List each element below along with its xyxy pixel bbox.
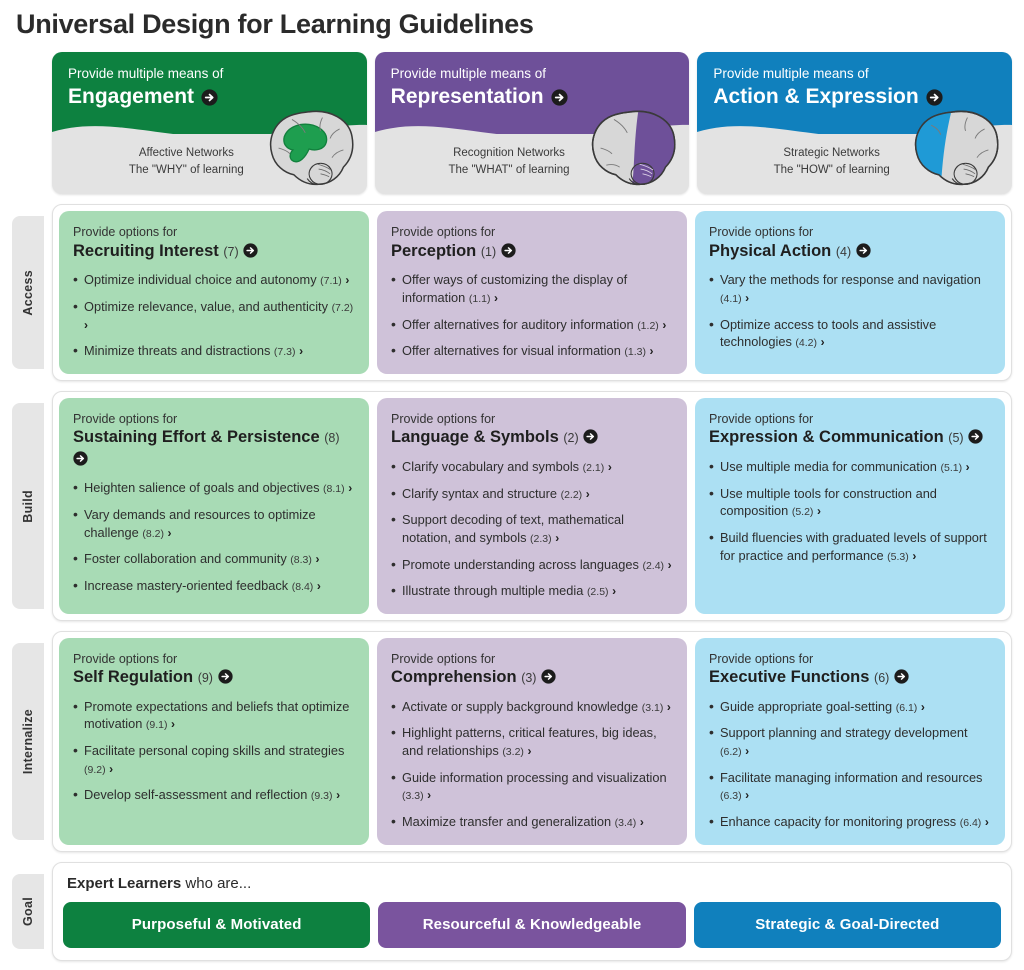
checkpoint-number: (4.2) — [795, 337, 817, 349]
cell-self-regulation[interactable]: Provide options for Self Regulation (9) … — [59, 638, 369, 845]
circle-arrow-right-icon[interactable] — [218, 669, 233, 684]
checkpoint-number: (6.4) — [960, 817, 982, 829]
guidelines-grid: Provide multiple means of Engagement — [12, 52, 1012, 960]
checkpoint-text: Maximize transfer and generalization — [402, 814, 611, 829]
row-label-text: Build — [21, 490, 35, 523]
checkpoint-list: Optimize individual choice and autonomy … — [73, 271, 355, 360]
chevron-right-icon[interactable]: › — [555, 531, 559, 545]
brain-strategic-icon — [908, 108, 1004, 190]
checkpoint-item[interactable]: Illustrate through multiple media (2.5) … — [391, 582, 673, 600]
checkpoint-text: Optimize access to tools and assistive t… — [720, 317, 936, 350]
checkpoint-number: (8.2) — [142, 528, 164, 540]
chevron-right-icon[interactable]: › — [608, 460, 612, 474]
chevron-right-icon[interactable]: › — [912, 549, 916, 563]
chevron-right-icon[interactable]: › — [668, 558, 672, 572]
circle-arrow-right-icon[interactable] — [856, 243, 871, 258]
cell-number: (9) — [198, 671, 213, 685]
cell-number: (2) — [563, 431, 578, 445]
checkpoint-item[interactable]: Vary the methods for response and naviga… — [709, 271, 991, 306]
checkpoint-number: (3.1) — [642, 702, 664, 714]
header-title: Representation — [391, 84, 544, 110]
checkpoint-item[interactable]: Clarify vocabulary and symbols (2.1) › — [391, 458, 673, 476]
checkpoint-text: Enhance capacity for monitoring progress — [720, 814, 956, 829]
checkpoint-item[interactable]: Facilitate personal coping skills and st… — [73, 742, 355, 777]
brain-affective-icon — [263, 108, 359, 190]
header-title-row: Engagement — [68, 84, 351, 110]
chevron-right-icon[interactable]: › — [84, 318, 88, 332]
checkpoint-text: Illustrate through multiple media — [402, 583, 583, 598]
checkpoint-number: (7.1) — [320, 275, 342, 287]
chevron-right-icon[interactable]: › — [817, 504, 821, 518]
checkpoint-text: Develop self-assessment and reflection — [84, 787, 307, 802]
checkpoint-text: Optimize individual choice and autonomy — [84, 272, 317, 287]
checkpoint-text: Optimize relevance, value, and authentic… — [84, 299, 328, 314]
circle-arrow-right-icon[interactable] — [243, 243, 258, 258]
checkpoint-item[interactable]: Build fluencies with graduated levels of… — [709, 529, 991, 564]
checkpoint-item[interactable]: Promote expectations and beliefs that op… — [73, 698, 355, 733]
circle-arrow-right-icon[interactable] — [501, 243, 516, 258]
checkpoint-number: (6.3) — [720, 790, 742, 802]
cell-executive-functions[interactable]: Provide options for Executive Functions … — [695, 638, 1005, 845]
chevron-right-icon[interactable]: › — [348, 481, 352, 495]
cell-perception[interactable]: Provide options for Perception (1) Offer… — [377, 211, 687, 374]
checkpoint-number: (9.1) — [146, 719, 168, 731]
circle-arrow-right-icon[interactable] — [541, 669, 556, 684]
header-text-block: Provide multiple means of Engagement — [52, 52, 367, 110]
cell-number: (5) — [948, 431, 963, 445]
header-card-representation[interactable]: Provide multiple means of Representation — [375, 52, 690, 194]
chevron-right-icon[interactable]: › — [527, 744, 531, 758]
cell-eyebrow: Provide options for — [709, 224, 991, 241]
checkpoint-number: (3.2) — [502, 746, 524, 758]
checkpoint-list: Use multiple media for communication (5.… — [709, 458, 991, 564]
checkpoint-text: Support decoding of text, mathematical n… — [402, 512, 624, 545]
chevron-right-icon[interactable]: › — [745, 788, 749, 802]
checkpoint-text: Promote understanding across languages — [402, 557, 639, 572]
checkpoint-list: Promote expectations and beliefs that op… — [73, 698, 355, 804]
checkpoint-text: Activate or supply background knowledge — [402, 699, 638, 714]
checkpoint-item[interactable]: Use multiple media for communication (5.… — [709, 458, 991, 476]
checkpoint-item[interactable]: Clarify syntax and structure (2.2) › — [391, 485, 673, 503]
row-label-spacer — [12, 64, 44, 182]
cell-title: Comprehension — [391, 668, 517, 686]
header-eyebrow: Provide multiple means of — [713, 66, 996, 83]
circle-arrow-right-icon[interactable] — [894, 669, 909, 684]
checkpoint-number: (2.3) — [530, 533, 552, 545]
cell-title: Perception — [391, 242, 476, 260]
checkpoint-item[interactable]: Activate or supply background knowledge … — [391, 698, 673, 716]
cell-title: Physical Action — [709, 242, 831, 260]
cell-number: (4) — [836, 245, 851, 259]
checkpoint-text: Facilitate personal coping skills and st… — [84, 743, 344, 758]
goal-buttons: Purposeful & Motivated Resourceful & Kno… — [63, 902, 1001, 948]
checkpoint-number: (3.4) — [615, 817, 637, 829]
checkpoint-text: Facilitate managing information and reso… — [720, 770, 982, 785]
row-frame-access: Provide options for Recruiting Interest … — [52, 204, 1012, 381]
checkpoint-item[interactable]: Offer alternatives for auditory informat… — [391, 316, 673, 334]
header-network-name: Recognition Networks — [415, 145, 604, 162]
brain-recognition-icon — [585, 108, 681, 190]
row-label-goal: Goal — [12, 874, 44, 949]
chevron-right-icon[interactable]: › — [586, 487, 590, 501]
checkpoint-item[interactable]: Enhance capacity for monitoring progress… — [709, 813, 991, 831]
checkpoint-item[interactable]: Facilitate managing information and reso… — [709, 769, 991, 804]
row-label-text: Internalize — [21, 709, 35, 774]
checkpoint-number: (8.1) — [323, 483, 345, 495]
cell-number: (6) — [874, 671, 889, 685]
checkpoint-number: (7.2) — [332, 302, 354, 314]
cell-physical-action[interactable]: Provide options for Physical Action (4) … — [695, 211, 1005, 374]
expert-learners-line: Expert Learners who are... — [67, 875, 1001, 892]
checkpoint-item[interactable]: Promote understanding across languages (… — [391, 556, 673, 574]
cell-title-row: Self Regulation (9) — [73, 667, 355, 688]
checkpoint-number: (1.2) — [637, 320, 659, 332]
checkpoint-item[interactable]: Support planning and strategy developmen… — [709, 724, 991, 759]
cell-title-row: Sustaining Effort & Persistence (8) — [73, 427, 355, 470]
header-text-block: Provide multiple means of Action & Expre… — [697, 52, 1012, 110]
checkpoint-number: (1.3) — [624, 346, 646, 358]
checkpoint-item[interactable]: Heighten salience of goals and objective… — [73, 479, 355, 497]
checkpoint-text: Support planning and strategy developmen… — [720, 725, 968, 740]
checkpoint-item[interactable]: Foster collaboration and community (8.3)… — [73, 550, 355, 568]
header-card-action-expression[interactable]: Provide multiple means of Action & Expre… — [697, 52, 1012, 194]
checkpoint-text: Offer alternatives for auditory informat… — [402, 317, 634, 332]
chevron-right-icon[interactable]: › — [966, 460, 970, 474]
checkpoint-text: Clarify syntax and structure — [402, 486, 557, 501]
chevron-right-icon[interactable]: › — [662, 318, 666, 332]
cell-sustaining-effort-persistence[interactable]: Provide options for Sustaining Effort & … — [59, 398, 369, 614]
circle-arrow-right-icon[interactable] — [583, 429, 598, 444]
cell-number: (3) — [521, 671, 536, 685]
cell-title-row: Perception (1) — [391, 241, 673, 262]
cell-language-symbols[interactable]: Provide options for Language & Symbols (… — [377, 398, 687, 614]
cell-title-row: Recruiting Interest (7) — [73, 241, 355, 262]
row-label-text: Access — [21, 270, 35, 316]
checkpoint-text: Offer alternatives for visual informatio… — [402, 343, 621, 358]
checkpoint-item[interactable]: Guide information processing and visuali… — [391, 769, 673, 804]
checkpoint-list: Heighten salience of goals and objective… — [73, 479, 355, 594]
cell-title: Sustaining Effort & Persistence — [73, 428, 320, 446]
chevron-right-icon[interactable]: › — [168, 526, 172, 540]
chevron-right-icon[interactable]: › — [109, 762, 113, 776]
circle-arrow-right-icon[interactable] — [73, 451, 88, 466]
checkpoint-number: (6.2) — [720, 746, 742, 758]
cell-number: (8) — [324, 431, 339, 445]
checkpoint-item[interactable]: Develop self-assessment and reflection (… — [73, 786, 355, 804]
checkpoint-item[interactable]: Guide appropriate goal-setting (6.1) › — [709, 698, 991, 716]
checkpoint-item[interactable]: Vary demands and resources to optimize c… — [73, 506, 355, 541]
cell-title: Self Regulation — [73, 668, 193, 686]
circle-arrow-right-icon[interactable] — [926, 89, 943, 106]
chevron-right-icon[interactable]: › — [612, 584, 616, 598]
chevron-right-icon[interactable]: › — [650, 344, 654, 358]
checkpoint-number: (1.1) — [469, 293, 491, 305]
checkpoint-number: (5.3) — [887, 551, 909, 563]
row-label-text: Goal — [21, 897, 35, 926]
checkpoint-text: Promote expectations and beliefs that op… — [84, 699, 349, 732]
checkpoint-text: Offer ways of customizing the display of… — [402, 272, 627, 305]
chevron-right-icon[interactable]: › — [667, 700, 671, 714]
checkpoint-item[interactable]: Offer ways of customizing the display of… — [391, 271, 673, 306]
checkpoint-text: Use multiple tools for construction and … — [720, 486, 937, 519]
checkpoint-text: Clarify vocabulary and symbols — [402, 459, 579, 474]
checkpoint-text: Increase mastery-oriented feedback — [84, 578, 288, 593]
checkpoint-number: (9.2) — [84, 764, 106, 776]
circle-arrow-right-icon[interactable] — [201, 89, 218, 106]
cell-eyebrow: Provide options for — [73, 224, 355, 241]
chevron-right-icon[interactable]: › — [494, 291, 498, 305]
udl-guidelines-page: Universal Design for Learning Guidelines… — [0, 0, 1024, 970]
checkpoint-number: (9.3) — [311, 790, 333, 802]
goal-frame: Expert Learners who are... Purposeful & … — [52, 862, 1012, 961]
checkpoint-item[interactable]: Minimize threats and distractions (7.3) … — [73, 342, 355, 360]
chevron-right-icon[interactable]: › — [315, 552, 319, 566]
goal-button-strategic-goal-directed[interactable]: Strategic & Goal-Directed — [694, 902, 1001, 948]
checkpoint-number: (6.1) — [896, 702, 918, 714]
page-title: Universal Design for Learning Guidelines — [12, 0, 1012, 52]
cell-comprehension[interactable]: Provide options for Comprehension (3) Ac… — [377, 638, 687, 845]
checkpoint-item[interactable]: Offer alternatives for visual informatio… — [391, 342, 673, 360]
chevron-right-icon[interactable]: › — [821, 335, 825, 349]
header-title: Action & Expression — [713, 84, 918, 110]
header-network-name: Strategic Networks — [737, 145, 926, 162]
checkpoint-number: (5.2) — [792, 506, 814, 518]
chevron-right-icon[interactable]: › — [427, 788, 431, 802]
checkpoint-item[interactable]: Optimize relevance, value, and authentic… — [73, 298, 355, 333]
header-eyebrow: Provide multiple means of — [391, 66, 674, 83]
chevron-right-icon[interactable]: › — [985, 815, 989, 829]
checkpoint-text: Foster collaboration and community — [84, 551, 287, 566]
chevron-right-icon[interactable]: › — [299, 344, 303, 358]
checkpoint-text: Vary the methods for response and naviga… — [720, 272, 981, 287]
checkpoint-number: (7.3) — [274, 346, 296, 358]
checkpoint-list: Offer ways of customizing the display of… — [391, 271, 673, 360]
goal-button-resourceful-knowledgeable[interactable]: Resourceful & Knowledgeable — [378, 902, 685, 948]
checkpoint-text: Build fluencies with graduated levels of… — [720, 530, 987, 563]
checkpoint-number: (2.1) — [583, 462, 605, 474]
row-frame-build: Provide options for Sustaining Effort & … — [52, 391, 1012, 621]
cell-title-row: Language & Symbols (2) — [391, 427, 673, 448]
chevron-right-icon[interactable]: › — [921, 700, 925, 714]
checkpoint-item[interactable]: Increase mastery-oriented feedback (8.4)… — [73, 577, 355, 595]
goal-button-purposeful-motivated[interactable]: Purposeful & Motivated — [63, 902, 370, 948]
cell-title: Recruiting Interest — [73, 242, 219, 260]
chevron-right-icon[interactable]: › — [745, 291, 749, 305]
chevron-right-icon[interactable]: › — [336, 788, 340, 802]
cell-eyebrow: Provide options for — [391, 651, 673, 668]
chevron-right-icon[interactable]: › — [171, 717, 175, 731]
checkpoint-item[interactable]: Highlight patterns, critical features, b… — [391, 724, 673, 759]
checkpoint-number: (5.1) — [940, 462, 962, 474]
cell-eyebrow: Provide options for — [391, 411, 673, 428]
header-learning-why: The "WHY" of learning — [92, 162, 281, 179]
checkpoint-list: Vary the methods for response and naviga… — [709, 271, 991, 351]
header-title-row: Action & Expression — [713, 84, 996, 110]
checkpoint-item[interactable]: Maximize transfer and generalization (3.… — [391, 813, 673, 831]
checkpoint-number: (8.4) — [292, 581, 314, 593]
cell-title-row: Expression & Communication (5) — [709, 427, 991, 448]
cell-expression-communication[interactable]: Provide options for Expression & Communi… — [695, 398, 1005, 614]
checkpoint-number: (2.2) — [561, 489, 583, 501]
chevron-right-icon[interactable]: › — [345, 273, 349, 287]
header-learning-what: The "WHAT" of learning — [415, 162, 604, 179]
circle-arrow-right-icon[interactable] — [968, 429, 983, 444]
header-eyebrow: Provide multiple means of — [68, 66, 351, 83]
checkpoint-text: Guide appropriate goal-setting — [720, 699, 892, 714]
header-network-name: Affective Networks — [92, 145, 281, 162]
header-text-block: Provide multiple means of Representation — [375, 52, 690, 110]
checkpoint-item[interactable]: Optimize access to tools and assistive t… — [709, 316, 991, 351]
cell-eyebrow: Provide options for — [709, 651, 991, 668]
cell-recruiting-interest[interactable]: Provide options for Recruiting Interest … — [59, 211, 369, 374]
checkpoint-number: (2.4) — [642, 560, 664, 572]
checkpoint-number: (8.3) — [290, 554, 312, 566]
circle-arrow-right-icon[interactable] — [551, 89, 568, 106]
checkpoint-item[interactable]: Optimize individual choice and autonomy … — [73, 271, 355, 289]
expert-learners-rest: who are... — [181, 875, 251, 892]
chevron-right-icon[interactable]: › — [640, 815, 644, 829]
cell-eyebrow: Provide options for — [391, 224, 673, 241]
cell-number: (7) — [223, 245, 238, 259]
checkpoint-item[interactable]: Support decoding of text, mathematical n… — [391, 511, 673, 546]
header-title-row: Representation — [391, 84, 674, 110]
row-label-access: Access — [12, 216, 44, 369]
cell-title-row: Comprehension (3) — [391, 667, 673, 688]
header-card-engagement[interactable]: Provide multiple means of Engagement — [52, 52, 367, 194]
checkpoint-text: Guide information processing and visuali… — [402, 770, 667, 785]
checkpoint-list: Activate or supply background knowledge … — [391, 698, 673, 831]
row-label-internalize: Internalize — [12, 643, 44, 840]
checkpoint-item[interactable]: Use multiple tools for construction and … — [709, 485, 991, 520]
chevron-right-icon[interactable]: › — [317, 579, 321, 593]
cell-title: Language & Symbols — [391, 428, 559, 446]
cell-title: Executive Functions — [709, 668, 869, 686]
row-label-build: Build — [12, 403, 44, 609]
header-title: Engagement — [68, 84, 194, 110]
cell-title-row: Physical Action (4) — [709, 241, 991, 262]
cell-title-row: Executive Functions (6) — [709, 667, 991, 688]
chevron-right-icon[interactable]: › — [745, 744, 749, 758]
checkpoint-number: (3.3) — [402, 790, 424, 802]
expert-learners-bold: Expert Learners — [67, 875, 181, 892]
cell-title: Expression & Communication — [709, 428, 944, 446]
row-frame-internalize: Provide options for Self Regulation (9) … — [52, 631, 1012, 852]
checkpoint-number: (4.1) — [720, 293, 742, 305]
checkpoint-text: Minimize threats and distractions — [84, 343, 270, 358]
checkpoint-text: Heighten salience of goals and objective… — [84, 480, 319, 495]
checkpoint-list: Clarify vocabulary and symbols (2.1) › C… — [391, 458, 673, 600]
cell-eyebrow: Provide options for — [709, 411, 991, 428]
checkpoint-list: Guide appropriate goal-setting (6.1) › S… — [709, 698, 991, 831]
checkpoint-text: Vary demands and resources to optimize c… — [84, 507, 316, 540]
header-learning-how: The "HOW" of learning — [737, 162, 926, 179]
checkpoint-text: Use multiple media for communication — [720, 459, 937, 474]
cell-eyebrow: Provide options for — [73, 411, 355, 428]
cell-number: (1) — [481, 245, 496, 259]
cell-eyebrow: Provide options for — [73, 651, 355, 668]
checkpoint-number: (2.5) — [587, 586, 609, 598]
